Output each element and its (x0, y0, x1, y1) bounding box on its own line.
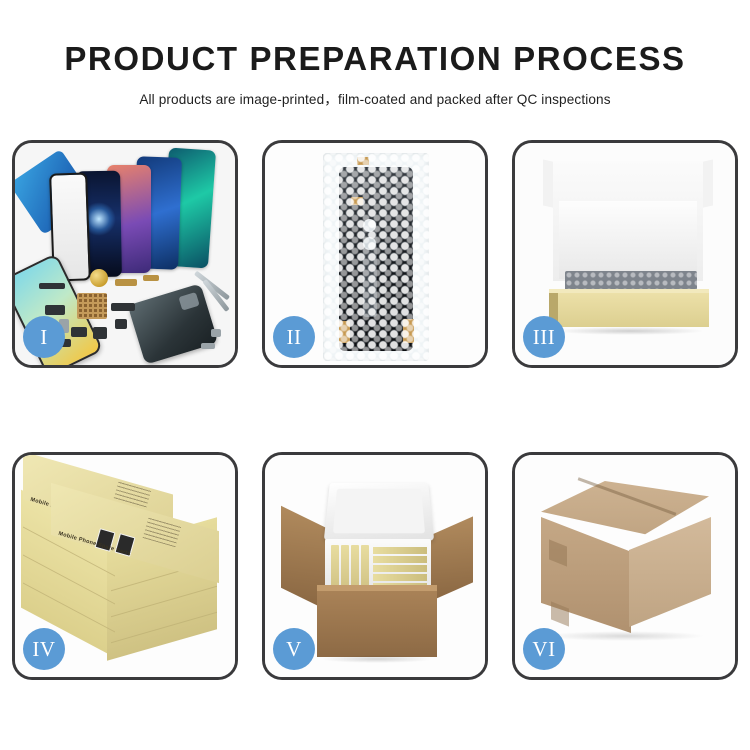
inner-box-graphic (373, 547, 427, 554)
step-badge-1: I (23, 316, 65, 358)
process-step-panel-6: VI (512, 452, 738, 680)
inner-box-graphic (331, 545, 339, 587)
box-front-graphic (549, 293, 709, 327)
small-part-graphic (93, 327, 107, 339)
small-part-graphic (115, 279, 137, 286)
drop-shadow (321, 655, 433, 663)
step-badge-4: IV (23, 628, 65, 670)
drop-shadow (545, 631, 705, 641)
process-step-grid: I II (12, 140, 738, 692)
page-title: PRODUCT PREPARATION PROCESS (0, 42, 750, 75)
coil-part-graphic (90, 269, 108, 287)
inner-box-graphic (373, 565, 427, 572)
step-badge-6: VI (523, 628, 565, 670)
process-step-panel-2: II (262, 140, 488, 368)
bubble-wrap-bag (323, 153, 429, 361)
step-badge-2: II (273, 316, 315, 358)
small-part-graphic (115, 319, 127, 329)
styrofoam-lid-graphic (324, 483, 434, 541)
chip-grid-graphic (77, 293, 107, 319)
step-badge-3: III (523, 316, 565, 358)
inner-box-graphic (373, 556, 427, 563)
inner-box-graphic (373, 574, 427, 581)
drop-shadow (555, 327, 705, 335)
inner-box-graphic (341, 545, 349, 587)
page-subtitle: All products are image-printed，film-coat… (0, 88, 750, 108)
flex-cable-graphic (111, 303, 135, 311)
inner-box-graphic (361, 545, 369, 587)
small-part-graphic (143, 275, 159, 281)
inner-box-graphic (351, 545, 359, 587)
step-badge-5: V (273, 628, 315, 670)
foam-sheet-graphic (559, 201, 697, 279)
bubble-texture (323, 153, 429, 361)
process-step-panel-5: V (262, 452, 488, 680)
small-part-graphic (39, 283, 65, 289)
small-part-graphic (45, 305, 65, 315)
screw-graphic (201, 343, 215, 349)
process-step-panel-4: Mobile Phone Spare Parts Mobile Phone Sp… (12, 452, 238, 680)
process-step-panel-3: III (512, 140, 738, 368)
header: PRODUCT PREPARATION PROCESS All products… (0, 0, 750, 108)
product-preparation-infographic: PRODUCT PREPARATION PROCESS All products… (0, 0, 750, 750)
carton-front-graphic (317, 591, 437, 657)
screw-graphic (211, 329, 221, 337)
process-step-panel-1: I (12, 140, 238, 368)
small-part-graphic (71, 327, 87, 337)
